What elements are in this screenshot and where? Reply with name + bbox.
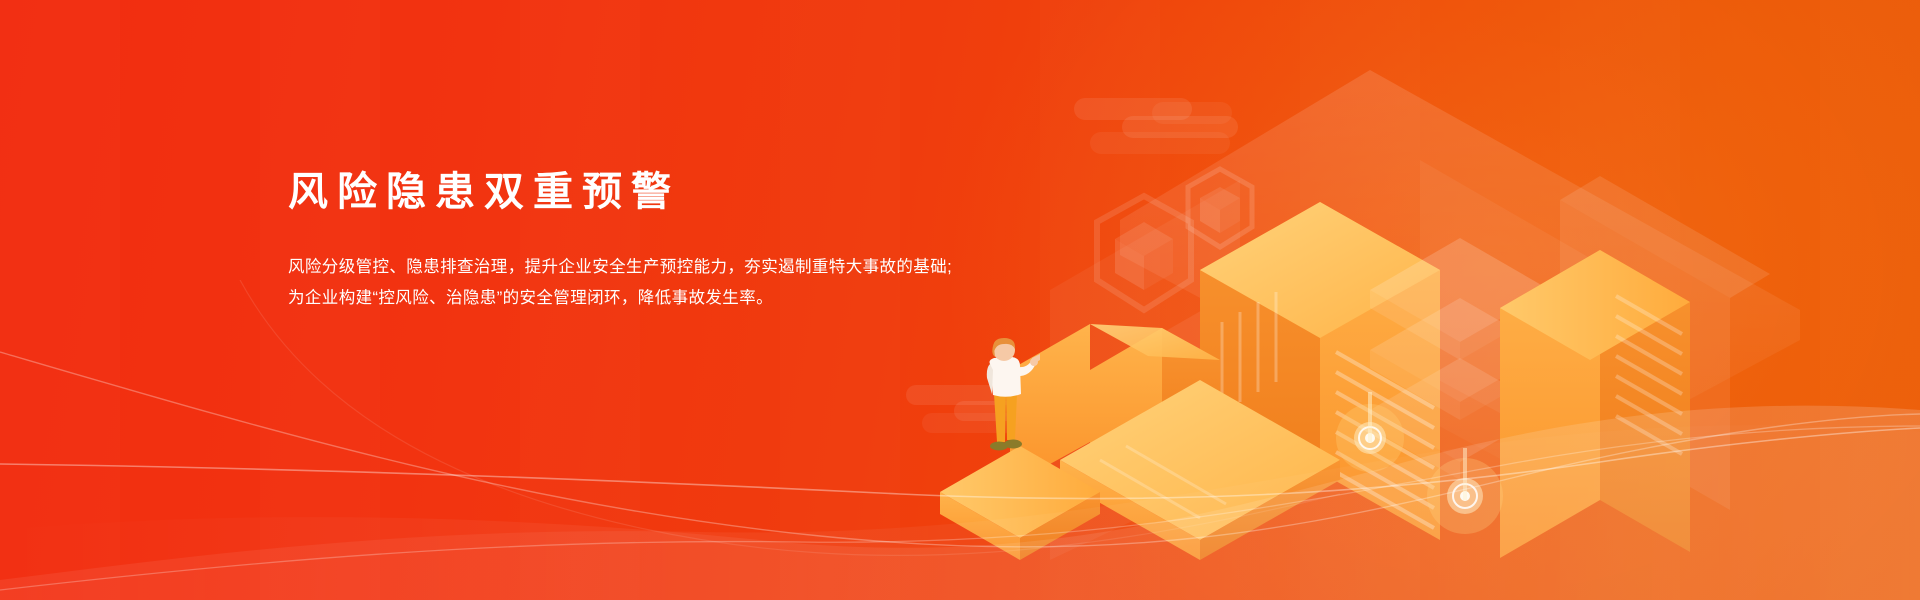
subtitle-line-1: 风险分级管控、隐患排查治理，提升企业安全生产预控能力，夯实遏制重特大事故的基础; [288,252,1048,283]
page-title: 风险隐患双重预警 [288,168,1048,216]
hero-subtitle: 风险分级管控、隐患排查治理，提升企业安全生产预控能力，夯实遏制重特大事故的基础;… [288,252,1048,314]
person-figure-icon [972,336,1042,461]
hex-cube-large-icon [1085,190,1203,318]
hex-cube-small-icon [1180,165,1260,253]
hero-banner: 风险隐患双重预警 风险分级管控、隐患排查治理，提升企业安全生产预控能力，夯实遏制… [0,0,1920,600]
hero-copy-block: 风险隐患双重预警 风险分级管控、隐患排查治理，提升企业安全生产预控能力，夯实遏制… [288,168,1048,314]
subtitle-line-2: 为企业构建“控风险、治隐患”的安全管理闭环，降低事故发生率。 [288,283,1048,314]
cloud-upper-icon [1060,98,1240,160]
background-radial-glow [940,0,1920,600]
cloud-lower-icon [896,385,1066,433]
decorative-waves [0,280,1920,600]
